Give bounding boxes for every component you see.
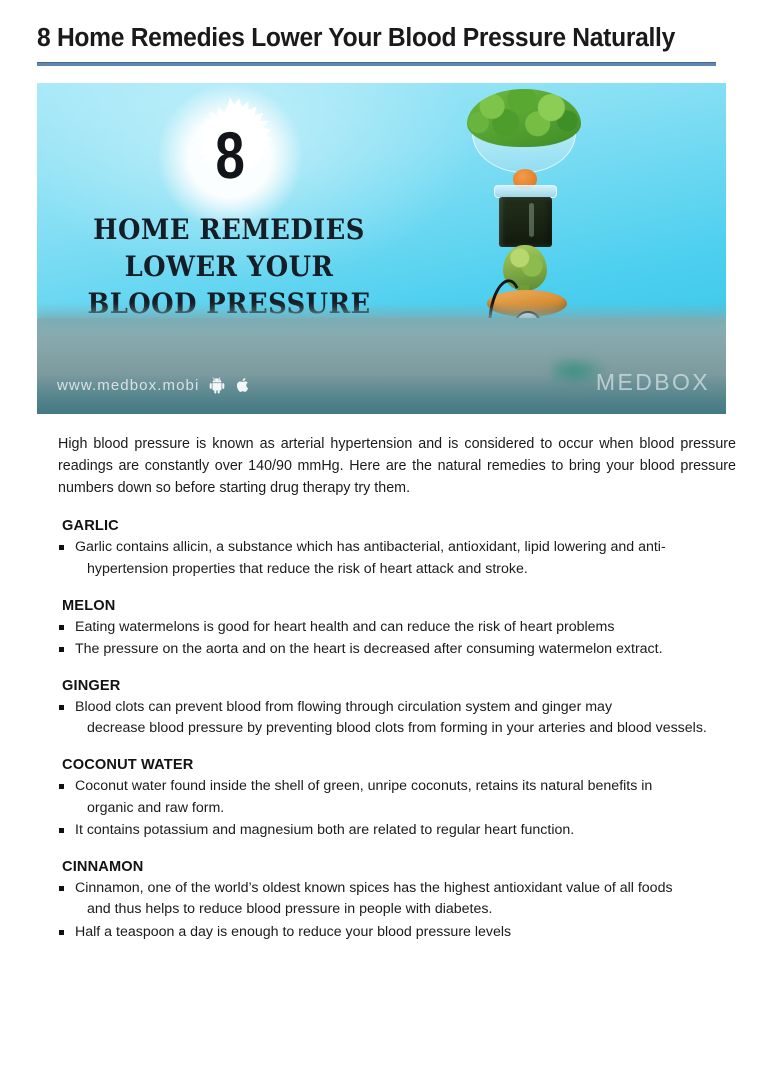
bullet-text-cont: organic and raw form.: [75, 798, 733, 820]
section-garlic: GARLIC Garlic contains allicin, a substa…: [57, 518, 727, 580]
title-block: 8 Home Remedies Lower Your Blood Pressur…: [37, 24, 717, 66]
seed-jar-icon: [497, 185, 554, 247]
bullet-text: Eating watermelons is good for heart hea…: [75, 619, 614, 635]
banner-url-block: www.medbox.mobi: [57, 376, 251, 394]
list-item: Coconut water found inside the shell of …: [57, 776, 733, 819]
medbox-logo: MEDBOX: [596, 369, 710, 396]
bullet-text: It contains potassium and magnesium both…: [75, 822, 574, 838]
bullet-text: Blood clots can prevent blood from flowi…: [75, 699, 612, 715]
title-divider: [37, 62, 716, 66]
bullet-text: Half a teaspoon a day is enough to reduc…: [75, 924, 511, 940]
list-item: It contains potassium and magnesium both…: [57, 820, 733, 842]
starburst-badge: 8: [168, 95, 292, 219]
section-heading: CINNAMON: [62, 859, 727, 875]
bullet-list: Coconut water found inside the shell of …: [57, 776, 727, 842]
bullet-list: Blood clots can prevent blood from flowi…: [57, 697, 727, 740]
headline-line-1: HOME REMEDIES: [73, 211, 386, 248]
bullet-text: Garlic contains allicin, a substance whi…: [75, 539, 666, 555]
jar-body: [499, 197, 552, 247]
section-coconut-water: COCONUT WATER Coconut water found inside…: [57, 757, 727, 842]
list-item: Garlic contains allicin, a substance whi…: [57, 537, 733, 580]
list-item: Half a teaspoon a day is enough to reduc…: [57, 922, 733, 944]
section-heading: COCONUT WATER: [62, 757, 727, 773]
badge-number: 8: [179, 93, 282, 221]
section-cinnamon: CINNAMON Cinnamon, one of the world’s ol…: [57, 859, 727, 944]
list-item: Blood clots can prevent blood from flowi…: [57, 697, 733, 740]
section-heading: MELON: [62, 598, 727, 614]
bullet-list: Cinnamon, one of the world’s oldest know…: [57, 878, 727, 944]
section-melon: MELON Eating watermelons is good for hea…: [57, 598, 727, 661]
leafy-greens: [467, 89, 581, 147]
document-page: 8 Home Remedies Lower Your Blood Pressur…: [0, 0, 768, 1086]
bullet-list: Eating watermelons is good for heart hea…: [57, 617, 727, 661]
section-heading: GINGER: [62, 678, 727, 694]
list-item: Cinnamon, one of the world’s oldest know…: [57, 878, 733, 921]
list-item: The pressure on the aorta and on the hea…: [57, 639, 733, 661]
bullet-text-cont: and thus helps to reduce blood pressure …: [75, 899, 733, 921]
banner-url-text: www.medbox.mobi: [57, 377, 199, 394]
bullet-text: The pressure on the aorta and on the hea…: [75, 641, 663, 657]
article-body: High blood pressure is known as arterial…: [57, 433, 727, 960]
android-icon: [209, 376, 225, 394]
hero-banner-image: 8 HOME REMEDIES LOWER YOUR BLOOD PRESSUR…: [37, 83, 726, 414]
table-surface: [37, 318, 726, 414]
section-heading: GARLIC: [62, 518, 727, 534]
section-ginger: GINGER Blood clots can prevent blood fro…: [57, 678, 727, 740]
bullet-list: Garlic contains allicin, a substance whi…: [57, 537, 727, 580]
bullet-text: Cinnamon, one of the world’s oldest know…: [75, 880, 673, 896]
page-title: 8 Home Remedies Lower Your Blood Pressur…: [37, 24, 693, 53]
list-item: Eating watermelons is good for heart hea…: [57, 617, 733, 639]
headline-line-2: LOWER YOUR: [73, 248, 386, 285]
salad-bowl-icon: [467, 89, 581, 175]
bullet-text-cont: hypertension properties that reduce the …: [75, 559, 733, 581]
bullet-text-cont: decrease blood pressure by preventing bl…: [75, 718, 733, 740]
bullet-text: Coconut water found inside the shell of …: [75, 778, 652, 794]
apple-icon: [235, 376, 251, 394]
intro-paragraph: High blood pressure is known as arterial…: [58, 433, 736, 499]
